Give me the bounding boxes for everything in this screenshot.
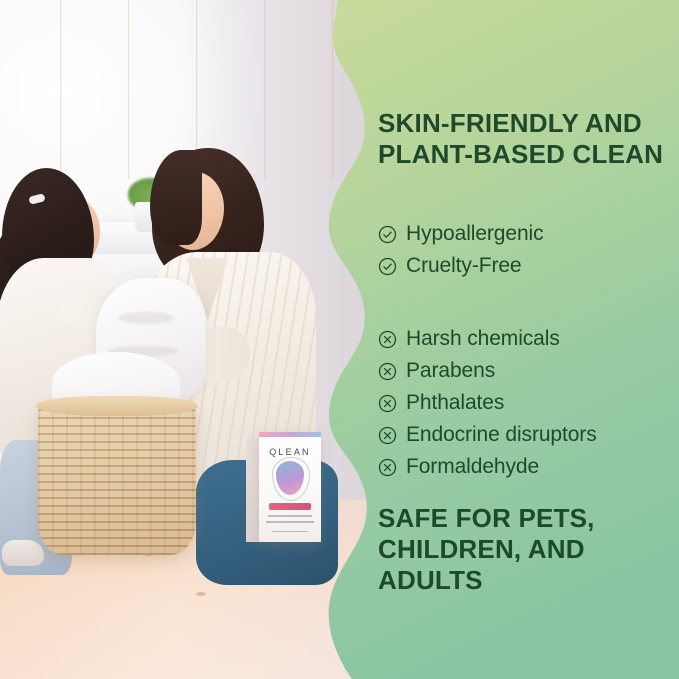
list-item-label: Hypoallergenic bbox=[406, 222, 544, 246]
list-item-label: Harsh chemicals bbox=[406, 327, 560, 351]
check-circle-icon bbox=[378, 257, 397, 276]
list-item-cruelty-free: Cruelty-Free bbox=[378, 250, 544, 282]
included-benefits-list: Hypoallergenic Cruelty-Free bbox=[378, 218, 544, 282]
product-box-brand-name: QLEAN bbox=[259, 447, 321, 457]
product-box-badge bbox=[269, 503, 311, 510]
product-box-top-stripe bbox=[259, 432, 321, 437]
list-item-formaldehyde: Formaldehyde bbox=[378, 451, 597, 483]
list-item-endocrine-disruptors: Endocrine disruptors bbox=[378, 419, 597, 451]
list-item-label: Cruelty-Free bbox=[406, 254, 522, 278]
wicker-basket-rim bbox=[36, 396, 198, 416]
x-circle-icon bbox=[378, 330, 397, 349]
x-circle-icon bbox=[378, 426, 397, 445]
list-item-label: Endocrine disruptors bbox=[406, 423, 597, 447]
product-box-text-line bbox=[272, 531, 308, 532]
x-circle-icon bbox=[378, 458, 397, 477]
product-marketing-image: QLEAN SKIN-FRIENDLY AND PLANT-BASED CLEA… bbox=[0, 0, 679, 679]
laundry-fold bbox=[118, 312, 174, 324]
floor-plank-line bbox=[60, 0, 62, 179]
product-box-side bbox=[246, 438, 260, 542]
list-item-parabens: Parabens bbox=[378, 355, 597, 387]
list-item-label: Parabens bbox=[406, 359, 495, 383]
x-circle-icon bbox=[378, 394, 397, 413]
product-box-text-line bbox=[266, 521, 314, 523]
list-item-harsh-chemicals: Harsh chemicals bbox=[378, 323, 597, 355]
wicker-weave-texture bbox=[38, 400, 196, 555]
panel-content: SKIN-FRIENDLY AND PLANT-BASED CLEAN Hypo… bbox=[378, 0, 678, 679]
list-item-label: Formaldehyde bbox=[406, 455, 539, 479]
floor-plank-line bbox=[128, 0, 130, 179]
list-item-label: Phthalates bbox=[406, 391, 504, 415]
floor-plank-line bbox=[332, 0, 334, 179]
list-item-hypoallergenic: Hypoallergenic bbox=[378, 218, 544, 250]
list-item-phthalates: Phthalates bbox=[378, 387, 597, 419]
headline-secondary: SAFE FOR PETS, CHILDREN, AND ADULTS bbox=[378, 503, 678, 596]
x-circle-icon bbox=[378, 362, 397, 381]
lifestyle-photo: QLEAN bbox=[0, 0, 400, 679]
headline-primary: SKIN-FRIENDLY AND PLANT-BASED CLEAN bbox=[378, 108, 663, 170]
floor-plank-line bbox=[264, 0, 266, 179]
check-circle-icon bbox=[378, 225, 397, 244]
product-box-text-line bbox=[268, 515, 312, 517]
excluded-ingredients-list: Harsh chemicals Parabens Phthalates bbox=[378, 323, 597, 483]
girl-sock bbox=[2, 540, 44, 566]
